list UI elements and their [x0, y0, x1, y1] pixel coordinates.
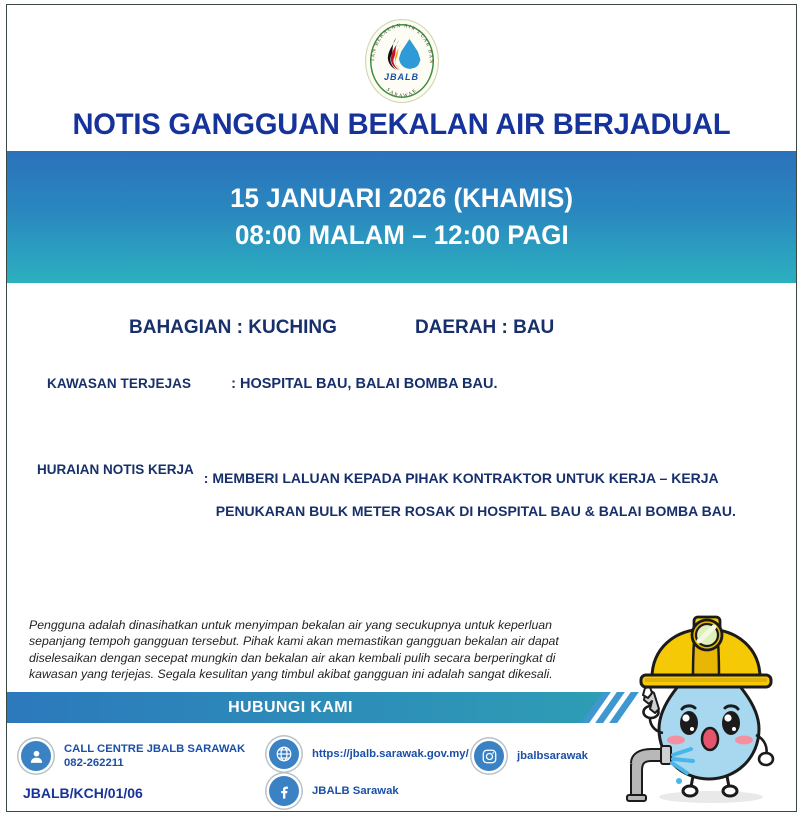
work-description-value: : MEMBERI LALUAN KEPADA PIHAK KONTRAKTOR…	[204, 462, 736, 528]
water-droplet-mascot	[619, 605, 797, 812]
hard-hat-icon	[641, 617, 771, 687]
logo-acronym: JBALB	[365, 72, 439, 82]
work-description-row: HURAIAN NOTIS KERJA : MEMBERI LALUAN KEP…	[7, 462, 796, 528]
instagram-handle[interactable]: jbalbsarawak	[517, 749, 588, 763]
division-district-row: BAHAGIAN : KUCHING DAERAH : BAU	[7, 317, 796, 339]
jbalb-logo-icon: JABATAN BEKALAN AIR LUAR BANDAR SARAWAK …	[365, 19, 439, 103]
call-centre-name: CALL CENTRE JBALB SARAWAK	[64, 743, 245, 755]
call-centre-item: CALL CENTRE JBALB SARAWAK 082-262211	[21, 741, 245, 771]
call-centre-text: CALL CENTRE JBALB SARAWAK 082-262211	[64, 742, 245, 770]
affected-area-row: KAWASAN TERJEJAS : HOSPITAL BAU, BALAI B…	[7, 376, 796, 392]
facebook-icon	[269, 776, 299, 806]
contact-details: CALL CENTRE JBALB SARAWAK 082-262211 htt…	[7, 729, 627, 812]
work-description-line-1: : MEMBERI LALUAN KEPADA PIHAK KONTRAKTOR…	[204, 462, 736, 495]
website-url[interactable]: https://jbalb.sarawak.gov.my/	[312, 747, 469, 761]
facebook-handle[interactable]: JBALB Sarawak	[312, 784, 399, 798]
website-item[interactable]: https://jbalb.sarawak.gov.my/	[269, 739, 469, 769]
banner-date: 15 JANUARI 2026 (KHAMIS)	[230, 183, 573, 214]
reference-number: JBALB/KCH/01/06	[23, 785, 143, 801]
contact-banner: HUBUNGI KAMI	[7, 692, 604, 723]
person-icon	[21, 741, 51, 771]
reference-number-item: JBALB/KCH/01/06	[23, 785, 143, 801]
page-title: NOTIS GANGGUAN BEKALAN AIR BERJADUAL	[19, 108, 784, 142]
svg-text:SARAWAK: SARAWAK	[384, 88, 418, 100]
schedule-banner: 15 JANUARI 2026 (KHAMIS) 08:00 MALAM – 1…	[7, 151, 796, 283]
logo-container: JABATAN BEKALAN AIR LUAR BANDAR SARAWAK …	[7, 19, 796, 103]
instagram-item[interactable]: jbalbsarawak	[474, 741, 588, 771]
advisory-paragraph: Pengguna adalah dinasihatkan untuk menyi…	[29, 617, 587, 683]
call-centre-number: 082-262211	[64, 756, 245, 770]
affected-area-label: KAWASAN TERJEJAS	[47, 376, 191, 392]
facebook-item[interactable]: JBALB Sarawak	[269, 776, 399, 806]
work-description-line-2: PENUKARAN BULK METER ROSAK DI HOSPITAL B…	[216, 495, 736, 528]
affected-area-value: : HOSPITAL BAU, BALAI BOMBA BAU.	[231, 376, 497, 392]
notice-page: JABATAN BEKALAN AIR LUAR BANDAR SARAWAK …	[6, 4, 797, 812]
banner-time: 08:00 MALAM – 12:00 PAGI	[235, 220, 569, 251]
logo-flame-icon	[385, 37, 402, 71]
district-label: DAERAH : BAU	[415, 317, 554, 339]
division-label: BAHAGIAN : KUCHING	[129, 317, 337, 339]
globe-icon	[269, 739, 299, 769]
contact-banner-title: HUBUNGI KAMI	[228, 699, 353, 717]
instagram-icon	[474, 741, 504, 771]
work-description-label: HURAIAN NOTIS KERJA	[37, 462, 194, 528]
